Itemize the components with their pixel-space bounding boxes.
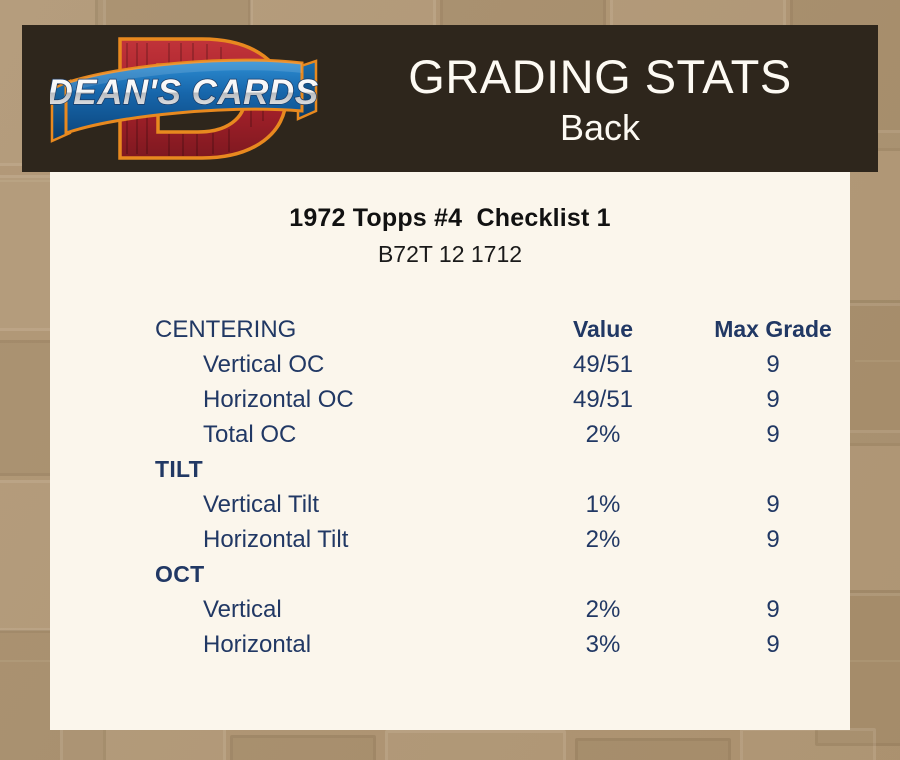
page-subtitle: Back — [560, 107, 640, 148]
section-label: OCT — [155, 557, 204, 592]
table-row: Total OC2%9 — [50, 417, 850, 452]
row-label: Vertical — [203, 592, 282, 627]
table-row: CENTERINGValueMax Grade — [50, 312, 850, 347]
table-row: Horizontal3%9 — [50, 627, 850, 662]
table-row: OCT — [50, 557, 850, 592]
logo-wordmark: DEAN'S CARDS — [50, 73, 318, 112]
card-identification: 1972 Topps #4 Checklist 1 B72T 12 1712 — [50, 204, 850, 268]
row-grade: 9 — [673, 347, 873, 382]
row-label: Vertical Tilt — [203, 487, 319, 522]
deans-cards-logo[interactable]: DEAN'S CARDS — [50, 27, 318, 170]
row-label: Vertical OC — [203, 347, 324, 382]
row-label: Horizontal Tilt — [203, 522, 348, 557]
row-grade: 9 — [673, 487, 873, 522]
header-bar: DEAN'S CARDS GRADING STATS Back — [22, 25, 878, 172]
card-code: B72T 12 1712 — [50, 241, 850, 268]
row-label: Horizontal — [203, 627, 311, 662]
grading-stats-table: CENTERINGValueMax GradeVertical OC49/519… — [50, 312, 850, 662]
table-row: Vertical2%9 — [50, 592, 850, 627]
row-grade: 9 — [673, 417, 873, 452]
row-grade: 9 — [673, 627, 873, 662]
page-title: GRADING STATS — [408, 52, 791, 101]
section-label: CENTERING — [155, 312, 296, 347]
table-row: TILT — [50, 452, 850, 487]
header-title-group: GRADING STATS Back — [322, 25, 878, 172]
table-row: Horizontal Tilt2%9 — [50, 522, 850, 557]
table-row: Horizontal OC49/519 — [50, 382, 850, 417]
row-grade: 9 — [673, 522, 873, 557]
row-label: Total OC — [203, 417, 296, 452]
section-label: TILT — [155, 452, 203, 487]
content-panel: 1972 Topps #4 Checklist 1 B72T 12 1712 C… — [50, 172, 850, 730]
column-header-grade: Max Grade — [673, 312, 873, 347]
card-title: 1972 Topps #4 Checklist 1 — [50, 204, 850, 233]
row-grade: 9 — [673, 592, 873, 627]
table-row: Vertical Tilt1%9 — [50, 487, 850, 522]
row-grade: 9 — [673, 382, 873, 417]
table-row: Vertical OC49/519 — [50, 347, 850, 382]
row-label: Horizontal OC — [203, 382, 354, 417]
